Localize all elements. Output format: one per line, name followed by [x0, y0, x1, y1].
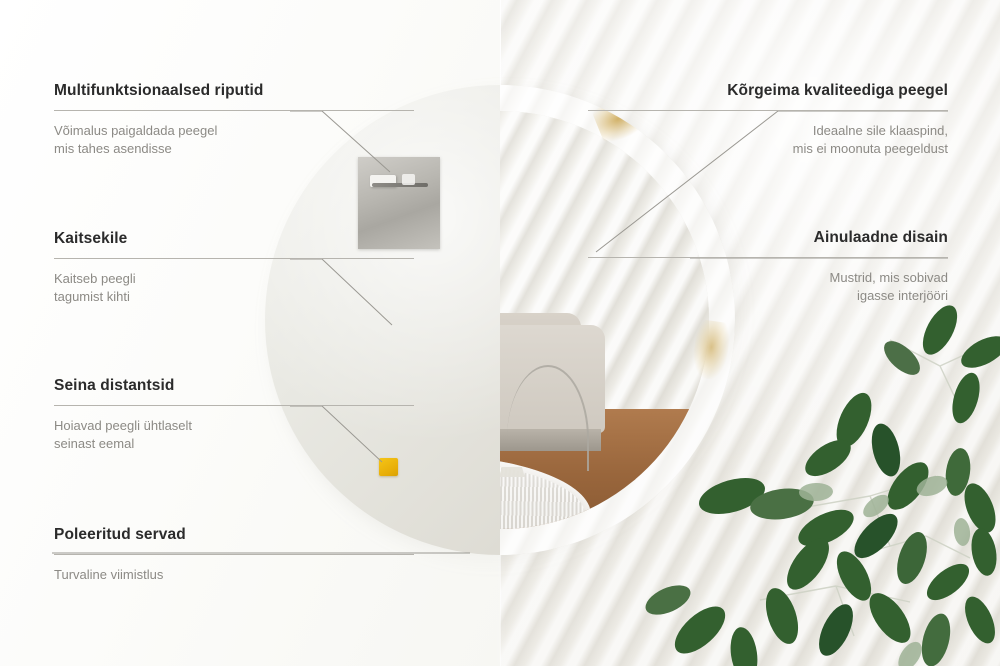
hanger-nub: [402, 174, 415, 185]
callout-title: Poleeritud servad: [54, 526, 414, 545]
infographic-canvas: Multifunktsionaalsed riputid Võimalus pa…: [0, 0, 1000, 666]
callout-rule: [54, 110, 414, 111]
callout-seina-distantsid: Seina distantsid Hoiavad peegli ühtlasel…: [54, 377, 414, 454]
callout-title: Ainulaadne disain: [588, 229, 948, 248]
callout-multifunktsionaalsed-riputid: Multifunktsionaalsed riputid Võimalus pa…: [54, 82, 414, 159]
callout-poleeritud-servad: Poleeritud servad Turvaline viimistlus: [54, 526, 414, 584]
callout-title: Kõrgeima kvaliteediga peegel: [588, 82, 948, 101]
callout-title: Multifunktsionaalsed riputid: [54, 82, 414, 101]
callout-description: Mustrid, mis sobivad igasse interjööri: [588, 269, 948, 306]
callout-rule: [54, 405, 414, 406]
callout-description: Turvaline viimistlus: [54, 566, 414, 584]
reflected-room-scene: [500, 111, 709, 529]
callout-rule: [588, 110, 948, 111]
callout-korgeima-kvaliteediga-peegel: Kõrgeima kvaliteediga peegel Ideaalne si…: [588, 82, 948, 159]
callout-description: Kaitseb peegli tagumist kihti: [54, 270, 414, 307]
callout-rule: [54, 554, 414, 555]
callout-ainulaadne-disain: Ainulaadne disain Mustrid, mis sobivad i…: [588, 229, 948, 306]
hanger-bar: [372, 183, 428, 187]
callout-title: Seina distantsid: [54, 377, 414, 396]
callout-description: Hoiavad peegli ühtlaselt seinast eemal: [54, 417, 414, 454]
callout-rule: [54, 258, 414, 259]
callout-description: Ideaalne sile klaaspind, mis ei moonuta …: [588, 122, 948, 159]
callout-kaitsekile: Kaitsekile Kaitseb peegli tagumist kihti: [54, 230, 414, 307]
callout-title: Kaitsekile: [54, 230, 414, 249]
wall-spacer: [379, 458, 398, 476]
callout-rule: [588, 257, 948, 258]
reflected-lamp-shade: [500, 467, 525, 477]
callout-description: Võimalus paigaldada peegel mis tahes ase…: [54, 122, 414, 159]
